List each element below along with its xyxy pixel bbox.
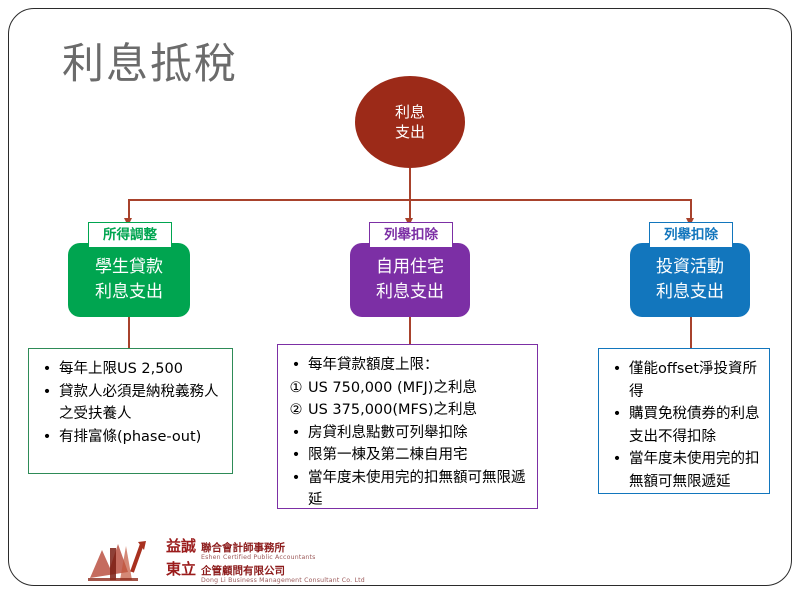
branch-3-line2: 利息支出: [656, 280, 724, 305]
list-item: • 每年貸款額度上限：: [284, 354, 529, 377]
bullet-text: US 375,000(MFS)之利息: [308, 399, 529, 422]
logo-line1-cn: 聯合會計師事務所: [201, 543, 316, 554]
logo-firm-name-2: 東立: [166, 561, 196, 578]
list-item: • 貸款人必須是納稅義務人之受扶養人: [35, 381, 224, 426]
branch-box-student-loan: 學生貸款 利息支出: [68, 243, 190, 317]
connector-root-stem: [409, 168, 411, 200]
bullet-text: 房貸利息點數可列舉扣除: [308, 422, 529, 445]
bullet-text: 每年貸款額度上限：: [308, 354, 529, 377]
logo-emblem-icon: [80, 538, 162, 584]
branch-1-line2: 利息支出: [95, 280, 163, 305]
logo-row-2: 東立 企管顧問有限公司 Dong Li Business Management …: [166, 561, 365, 584]
bullet-text: 每年上限US 2,500: [59, 358, 224, 381]
logo-row-1: 益誠 聯合會計師事務所 Eshen Certified Public Accou…: [166, 538, 365, 561]
bullet-text: 限第一棟及第二棟自用宅: [308, 444, 529, 467]
slide-canvas: 利息抵稅 利息 支出 學生貸款 利息支出 所得調整 • 每年上限US 2,500…: [0, 0, 800, 600]
list-item: • 當年度未使用完的扣無額可無限遞延: [605, 448, 761, 493]
list-item: ② US 375,000(MFS)之利息: [284, 399, 529, 422]
bullet-list-3: • 僅能offset淨投資所得 • 購買免稅債券的利息支出不得扣除 • 當年度未…: [605, 358, 761, 493]
connector-branch-2-to-bullets: [409, 317, 411, 345]
bullet-marker: ①: [284, 377, 308, 400]
branch-2-line2: 利息支出: [376, 280, 444, 305]
list-item: • 當年度未使用完的扣無額可無限遞延: [284, 467, 529, 512]
bullet-marker: ②: [284, 399, 308, 422]
bullet-box-investment: • 僅能offset淨投資所得 • 購買免稅債券的利息支出不得扣除 • 當年度未…: [598, 348, 770, 494]
list-item: • 購買免稅債券的利息支出不得扣除: [605, 403, 761, 448]
list-item: • 房貸利息點數可列舉扣除: [284, 422, 529, 445]
bullet-marker: •: [605, 403, 629, 426]
branch-1-tab-label: 所得調整: [88, 222, 172, 248]
company-logo: 益誠 聯合會計師事務所 Eshen Certified Public Accou…: [80, 536, 350, 586]
list-item: • 有排富條(phase-out): [35, 426, 224, 449]
bullet-marker: •: [35, 381, 59, 404]
bullet-list-1: • 每年上限US 2,500 • 貸款人必須是納稅義務人之受扶養人 • 有排富條…: [35, 358, 224, 448]
branch-3-tab-label: 列舉扣除: [649, 222, 733, 248]
logo-firm-name-1: 益誠: [166, 538, 196, 555]
bullet-box-student-loan: • 每年上限US 2,500 • 貸款人必須是納稅義務人之受扶養人 • 有排富條…: [28, 348, 233, 474]
branch-1-line1: 學生貸款: [95, 255, 163, 280]
connector-branch-3-to-bullets: [690, 317, 692, 349]
branch-box-investment: 投資活動 利息支出: [630, 243, 750, 317]
bullet-marker: •: [284, 467, 308, 490]
branch-2-tab-label: 列舉扣除: [369, 222, 453, 248]
bullet-marker: •: [35, 426, 59, 449]
bullet-text: 僅能offset淨投資所得: [629, 358, 761, 403]
bullet-text: US 750,000 (MFJ)之利息: [308, 377, 529, 400]
bullet-marker: •: [605, 358, 629, 381]
bullet-box-home-mortgage: • 每年貸款額度上限： ① US 750,000 (MFJ)之利息 ② US 3…: [277, 344, 538, 509]
bullet-text: 購買免稅債券的利息支出不得扣除: [629, 403, 761, 448]
logo-line2-cn: 企管顧問有限公司: [201, 566, 365, 577]
bullet-text: 有排富條(phase-out): [59, 426, 224, 449]
page-title: 利息抵稅: [62, 38, 238, 90]
bullet-text: 當年度未使用完的扣無額可無限遞延: [629, 448, 761, 493]
branch-box-home-mortgage: 自用住宅 利息支出: [350, 243, 470, 317]
root-node-line1: 利息: [395, 102, 425, 122]
logo-text-block: 益誠 聯合會計師事務所 Eshen Certified Public Accou…: [162, 538, 365, 584]
branch-2-line1: 自用住宅: [376, 255, 444, 280]
bullet-text: 當年度未使用完的扣無額可無限遞延: [308, 467, 529, 512]
list-item: • 每年上限US 2,500: [35, 358, 224, 381]
root-node-line2: 支出: [395, 122, 425, 142]
list-item: • 限第一棟及第二棟自用宅: [284, 444, 529, 467]
bullet-marker: •: [284, 422, 308, 445]
branch-3-line1: 投資活動: [656, 255, 724, 280]
connector-branch-1-to-bullets: [128, 317, 130, 349]
root-node-interest-expense: 利息 支出: [355, 76, 465, 168]
bullet-marker: •: [605, 448, 629, 471]
bullet-list-2: • 每年貸款額度上限： ① US 750,000 (MFJ)之利息 ② US 3…: [284, 354, 529, 512]
list-item: ① US 750,000 (MFJ)之利息: [284, 377, 529, 400]
bullet-marker: •: [284, 444, 308, 467]
bullet-marker: •: [284, 354, 308, 377]
bullet-marker: •: [35, 358, 59, 381]
bullet-text: 貸款人必須是納稅義務人之受扶養人: [59, 381, 224, 426]
logo-line1-en: Eshen Certified Public Accountants: [201, 554, 316, 562]
list-item: • 僅能offset淨投資所得: [605, 358, 761, 403]
logo-line2-en: Dong Li Business Management Consultant C…: [201, 577, 365, 585]
